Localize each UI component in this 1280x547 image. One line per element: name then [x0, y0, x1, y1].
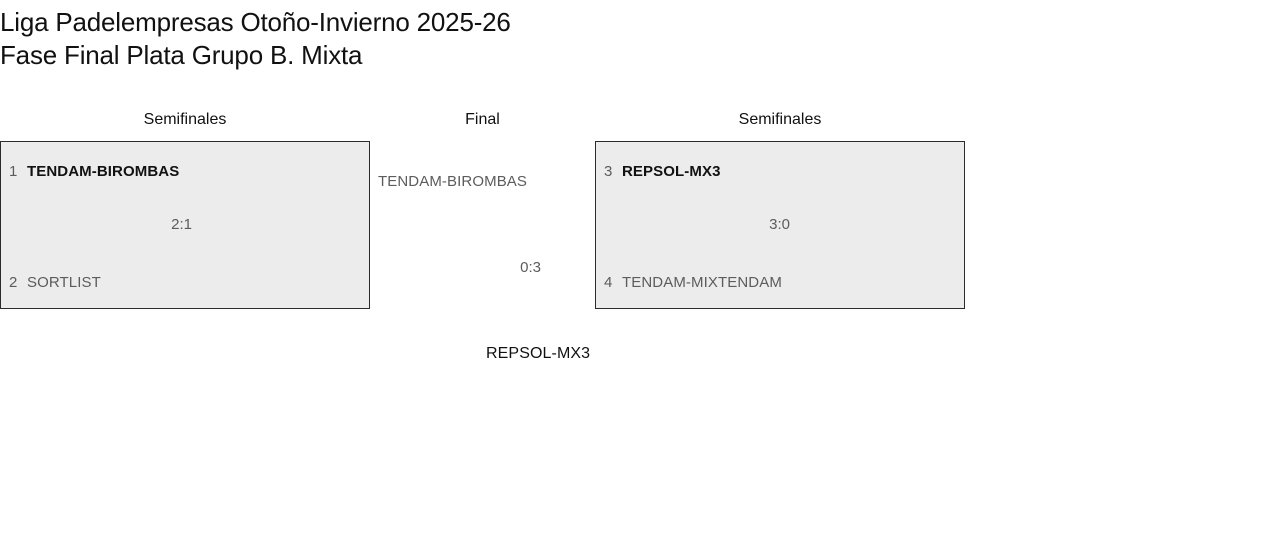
- match-semifinal-right[interactable]: 3 REPSOL-MX3 3:0 4 TENDAM-MIXTENDAM: [595, 141, 965, 309]
- competitor-seed: 2: [1, 274, 27, 291]
- match-final[interactable]: TENDAM-BIROMBAS 0:3: [370, 141, 595, 309]
- page-title-line-1: Liga Padelempresas Otoño-Invierno 2025-2…: [0, 6, 900, 39]
- competitor-seed: 4: [596, 274, 622, 291]
- round-header-final: Final: [370, 109, 595, 131]
- competitor-name: TENDAM-MIXTENDAM: [622, 274, 782, 291]
- final-competitor-loser[interactable]: TENDAM-BIROMBAS: [378, 173, 527, 190]
- match-competitor-loser[interactable]: 2 SORTLIST: [1, 271, 369, 293]
- page-title-line-2: Fase Final Plata Grupo B. Mixta: [0, 39, 900, 72]
- competitor-name: TENDAM-BIROMBAS: [27, 163, 179, 180]
- competitor-name: SORTLIST: [27, 274, 101, 291]
- final-score: 0:3: [370, 259, 595, 276]
- competitor-seed: 1: [1, 163, 27, 180]
- match-competitor-winner[interactable]: 1 TENDAM-BIROMBAS: [1, 160, 369, 182]
- page-title: Liga Padelempresas Otoño-Invierno 2025-2…: [0, 6, 900, 72]
- match-score: 2:1: [1, 216, 369, 233]
- competitor-name: REPSOL-MX3: [622, 163, 721, 180]
- competitor-seed: 3: [596, 163, 622, 180]
- round-header-semifinals-left: Semifinales: [0, 109, 370, 131]
- champion-name[interactable]: REPSOL-MX3: [486, 343, 590, 364]
- match-competitor-winner[interactable]: 3 REPSOL-MX3: [596, 160, 964, 182]
- match-semifinal-left[interactable]: 1 TENDAM-BIROMBAS 2:1 2 SORTLIST: [0, 141, 370, 309]
- match-score: 3:0: [596, 216, 964, 233]
- round-header-semifinals-right: Semifinales: [595, 109, 965, 131]
- match-competitor-loser[interactable]: 4 TENDAM-MIXTENDAM: [596, 271, 964, 293]
